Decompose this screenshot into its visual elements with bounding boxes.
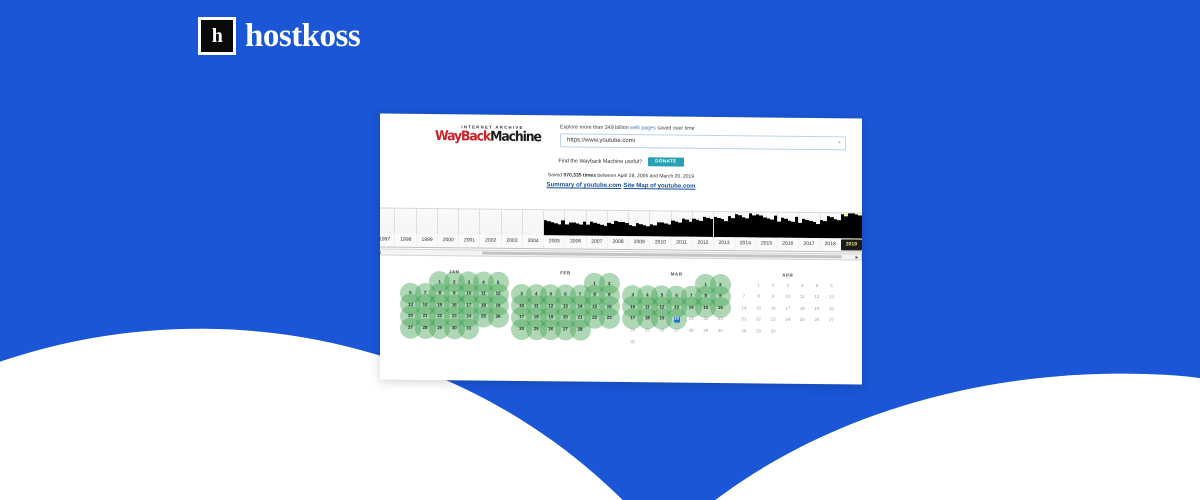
calendar-day-number: 2: [719, 283, 721, 287]
wordmark-wayback: WayBack: [435, 128, 490, 145]
calendar-day-number: 9: [719, 294, 721, 298]
calendar-day-number: 9: [608, 293, 610, 297]
calendar-day-cell: 1: [751, 279, 766, 291]
timeline-year-bars: [501, 208, 522, 235]
calendar-day-cell: 12: [810, 292, 825, 304]
calendar-day-number: 27: [563, 327, 568, 331]
timeline-year-bars: [714, 210, 735, 237]
calendar-day-number: 18: [645, 317, 650, 321]
timeline-year-label[interactable]: 2009: [629, 240, 650, 245]
calendar-day-cell[interactable]: 23: [602, 313, 617, 325]
saved-prefix: Saved: [548, 173, 564, 179]
calendar-day-number: 12: [548, 304, 553, 308]
calendar-day-cell: 20: [824, 303, 839, 315]
calendar-day-number: 6: [675, 294, 677, 298]
calendar-grid: 1234567891011121314151617181920212223242…: [626, 278, 728, 349]
donate-button[interactable]: DONATE: [648, 158, 683, 167]
calendar-day-number: 7: [743, 294, 745, 298]
calendar-jan: JAN1234567891011121314151617181920212223…: [403, 269, 505, 347]
calendar-day-number: 19: [814, 307, 819, 311]
search-input[interactable]: https://www.youtube.com/: [567, 138, 635, 145]
timeline-year-bars: [565, 208, 586, 235]
calendar-day-cell: 23: [713, 314, 728, 326]
timeline-year-label[interactable]: 2007: [586, 240, 607, 245]
calendar-day-number: 5: [550, 292, 552, 296]
timeline-year-label[interactable]: 2010: [650, 240, 671, 245]
timeline-year-bars: [395, 207, 416, 233]
calendar-day-number: 10: [519, 304, 524, 308]
calendar-day-cell: 21: [684, 313, 699, 325]
calendar-day-number: 26: [496, 315, 501, 319]
calendar-day-number: 22: [756, 318, 761, 322]
calendar-day-number: 26: [660, 328, 665, 332]
timeline-year-label[interactable]: 2004: [523, 239, 544, 244]
timeline-year-bars: [523, 208, 544, 235]
calendar-day-number: 18: [481, 303, 486, 307]
timeline-year-label[interactable]: 2003: [501, 239, 522, 244]
calendar-day-cell[interactable]: 16: [713, 302, 728, 314]
calendar-grid: 1234567891011121314151617181920212223242…: [737, 279, 839, 338]
timeline-year-label[interactable]: 2008: [607, 240, 628, 245]
calendar-day-number: 30: [771, 330, 776, 334]
logo-mark-icon: h: [198, 17, 236, 55]
timeline-year-label[interactable]: 2011: [671, 241, 692, 246]
calendar-day-cell: 19: [810, 303, 825, 315]
timeline-year-bars: [438, 207, 459, 234]
calendar-day-number: 18: [800, 307, 805, 311]
calendar-day-number: 6: [409, 291, 411, 295]
calendar-day-number: 23: [771, 318, 776, 322]
calendar-day-cell: 18: [795, 303, 810, 315]
calendar-day-number: 21: [742, 318, 747, 322]
calendar-day-cell: 24: [780, 314, 795, 326]
saved-count: 570,335 times: [563, 173, 596, 179]
scroll-left-icon[interactable]: ◀: [380, 249, 383, 254]
donate-question: Find the Wayback Machine useful?: [558, 158, 642, 165]
timeline-year-label[interactable]: 2001: [459, 238, 480, 243]
calendar-day-number: 11: [481, 292, 486, 296]
scrollbar-thumb[interactable]: [482, 252, 842, 259]
calendar-day-cell: 11: [795, 291, 810, 303]
timeline-year-bars: [380, 207, 395, 233]
calendar-day-number: 7: [690, 294, 692, 298]
timeline-year-bars: [735, 210, 756, 237]
timeline-year-bars: [459, 207, 480, 234]
timeline-year-label[interactable]: 1999: [416, 238, 437, 243]
calendar-day-number: 10: [466, 292, 471, 296]
calendar-day-number: 3: [468, 280, 470, 284]
calendar-day-number: 22: [592, 316, 597, 320]
calendar-day-number: 6: [564, 293, 566, 297]
calendar-day-number: 13: [563, 304, 568, 308]
wordmark-machine: Machine: [490, 129, 541, 146]
calendar-day-number: 19: [660, 317, 665, 321]
calendar-day-number: 24: [630, 328, 635, 332]
calendar-day-number: 7: [579, 293, 581, 297]
timeline-year-bars: [820, 211, 841, 238]
calendar-day-number: 15: [703, 306, 708, 310]
calendar-day-cell: 30: [766, 326, 781, 338]
timeline-year-label[interactable]: 2000: [438, 238, 459, 243]
calendar-grid: 1234567891011121314151617181920212223242…: [403, 276, 505, 335]
calendar-day-number: 14: [742, 306, 747, 310]
calendar-day-cell[interactable]: 31: [462, 323, 477, 335]
calendar-day-cell: 27: [669, 325, 684, 337]
calendar-day-number: 25: [534, 327, 539, 331]
calendar-day-number: 25: [481, 315, 486, 319]
calendar-day-number: 22: [437, 314, 442, 318]
calendar-day-number: 4: [482, 280, 484, 284]
calendar-day-number: 17: [630, 316, 635, 320]
saved-between: between April 28, 2005 and March 20, 201…: [596, 173, 694, 180]
calendar-day-number: 15: [437, 303, 442, 307]
timeline-section: 1997199819992000200120022003200420052006…: [380, 207, 862, 265]
calendar-day-cell: 31: [626, 336, 641, 348]
calendar-day-number: 27: [674, 329, 679, 333]
calendar-day-number: 19: [496, 303, 501, 307]
calendar-day-cell: 27: [824, 315, 839, 327]
timeline-year-label[interactable]: 2012: [692, 241, 713, 246]
calendar-day-number: 5: [661, 294, 663, 298]
calendar-day-number: 28: [423, 326, 428, 330]
calendar-day-number: 8: [438, 291, 440, 295]
wayback-logo[interactable]: INTERNET ARCHIVE WayBackMachine: [435, 122, 550, 145]
calendar-day-number: 27: [829, 319, 834, 323]
page-canvas: h hostkoss INTERNET ARCHIVE WayBackMachi…: [0, 0, 1200, 500]
calendar-day-cell: 7: [737, 291, 752, 303]
calendar-day-number: 1: [757, 283, 759, 287]
calendar-day-number: 31: [630, 340, 635, 344]
calendar-day-cell: 21: [737, 314, 752, 326]
calendar-day-number: 13: [829, 295, 834, 299]
calendar-day-number: 29: [437, 326, 442, 330]
calendar-day-number: 30: [718, 329, 723, 333]
wayback-screenshot-card: INTERNET ARCHIVE WayBackMachine Explore …: [380, 113, 862, 384]
brand-logo[interactable]: h hostkoss: [198, 17, 360, 55]
calendar-day-number: 16: [452, 303, 457, 307]
calendar-day-number: 16: [718, 306, 723, 310]
calendar-day-cell: 5: [810, 280, 825, 292]
calendar-day-number: 20: [563, 316, 568, 320]
calendar-day-number: 7: [424, 291, 426, 295]
calendar-day-cell: 29: [751, 326, 766, 338]
calendar-day-number: 24: [785, 318, 790, 322]
calendar-day-number: 12: [660, 305, 665, 309]
calendar-day-cell: 14: [737, 302, 752, 314]
brand-name: hostkoss: [245, 20, 360, 53]
calendar-day-cell: 10: [780, 291, 795, 303]
calendar-day-number: 28: [742, 329, 747, 333]
wayback-app: INTERNET ARCHIVE WayBackMachine Explore …: [380, 113, 862, 384]
calendar-day-number: 8: [757, 295, 759, 299]
year-timeline[interactable]: 1997199819992000200120022003200420052006…: [380, 207, 862, 252]
timeline-year-bars: [586, 209, 607, 236]
calendar-day-number: 1: [593, 281, 595, 285]
calendar-day-number: 8: [593, 293, 595, 297]
calendar-day-number: 8: [705, 294, 707, 298]
calendar-day-number: 2: [608, 281, 610, 285]
calendar-day-number: 31: [466, 326, 471, 330]
url-search-bar[interactable]: https://www.youtube.com/ ×: [560, 134, 846, 151]
calendar-day-cell[interactable]: 28: [573, 324, 588, 336]
calendar-day-number: 30: [452, 326, 457, 330]
calendar-day-number: 3: [520, 292, 522, 296]
calendar-day-number: 6: [830, 284, 832, 288]
calendar-day-number: 23: [718, 317, 723, 321]
calendar-day-number: 17: [785, 307, 790, 311]
timeline-year-label[interactable]: 2015: [756, 241, 777, 246]
calendar-day-number: 11: [534, 304, 539, 308]
calendar-day-number: 25: [800, 318, 805, 322]
calendar-day-number: 11: [800, 295, 805, 299]
calendar-day-number: 14: [423, 303, 428, 307]
calendar-day-number: 17: [466, 303, 471, 307]
calendar-day-number: 12: [496, 292, 501, 296]
calendar-day-number: 22: [703, 317, 708, 321]
calendar-day-cell: 29: [698, 325, 713, 337]
calendar-day-number: 29: [756, 329, 761, 333]
calendar-blank-cell: [737, 279, 752, 291]
calendar-month-label: APR: [737, 272, 839, 278]
timeline-year-bars: [671, 210, 692, 237]
calendar-day-cell: 26: [655, 325, 670, 337]
calendar-day-number: 28: [689, 329, 694, 333]
calendar-day-cell: 28: [737, 326, 752, 338]
scroll-right-icon[interactable]: ▶: [853, 254, 861, 259]
timeline-year-label[interactable]: 1997: [380, 237, 395, 242]
timeline-year-bars: [416, 207, 437, 234]
calendar-day-number: 19: [548, 316, 553, 320]
calendar-day-cell[interactable]: 26: [491, 311, 506, 323]
calendar-month-label: JAN: [403, 269, 505, 275]
calendar-day-number: 29: [703, 329, 708, 333]
calendar-day-number: 23: [607, 316, 612, 320]
calendar-day-number: 20: [829, 307, 834, 311]
calendar-day-number: 11: [645, 305, 650, 309]
timeline-year-label[interactable]: 2005: [544, 239, 565, 244]
calendar-day-number: 1: [705, 282, 707, 286]
card-edge: [861, 119, 863, 385]
calendar-day-number: 2: [772, 283, 774, 287]
calendar-day-number: 18: [534, 315, 539, 319]
calendar-day-cell: 13: [824, 292, 839, 304]
sitemap-link[interactable]: Site Map of youtube.com: [623, 182, 695, 190]
calendar-day-number: 28: [578, 328, 583, 332]
calendar-day-number: 4: [646, 293, 648, 297]
calendar-day-number: 9: [453, 291, 455, 295]
calendar-day-cell: 15: [751, 303, 766, 315]
calendar-day-number: 15: [756, 306, 761, 310]
search-column: Explore more than 349 billion web pages …: [560, 123, 846, 150]
calendar-day-number: 4: [801, 283, 803, 287]
tagline-after: saved over time: [656, 125, 695, 131]
wayback-header: INTERNET ARCHIVE WayBackMachine Explore …: [380, 113, 862, 150]
calendar-day-number: 13: [674, 305, 679, 309]
calendar-day-number: 9: [772, 295, 774, 299]
calendar-day-number: 12: [814, 295, 819, 299]
calendar-day-number: 13: [408, 303, 413, 307]
calendar-day-cell: 25: [795, 315, 810, 327]
calendar-day-number: 16: [771, 306, 776, 310]
timeline-year-bars: [544, 208, 565, 235]
calendar-day-number: 1: [438, 280, 440, 284]
calendar-month-label: MAR: [626, 271, 728, 277]
calendar-day-cell: 3: [780, 280, 795, 292]
calendar-day-number: 4: [535, 292, 537, 296]
calendar-day-number: 14: [578, 304, 583, 308]
calendar-day-number: 20: [674, 317, 679, 321]
timeline-year-bars: [841, 211, 862, 238]
calendar-day-number: 21: [578, 316, 583, 320]
calendar-day-cell: 17: [780, 303, 795, 315]
calendar-day-cell: 23: [766, 314, 781, 326]
calendar-day-number: 10: [785, 295, 790, 299]
calendar-day-number: 24: [519, 327, 524, 331]
calendar-day-number: 5: [816, 284, 818, 288]
calendar-day-number: 5: [497, 280, 499, 284]
calendar-day-cell: 2: [766, 280, 781, 292]
timeline-year-bars: [777, 211, 798, 238]
summary-link[interactable]: Summary of youtube.com: [547, 181, 622, 189]
calendar-day-number: 2: [453, 280, 455, 284]
timeline-year-label[interactable]: 2018: [820, 242, 841, 247]
calendar-day-number: 17: [519, 315, 524, 319]
calendar-day-cell: 8: [751, 291, 766, 303]
calendar-day-cell: 16: [766, 303, 781, 315]
calendar-day-cell: 6: [824, 280, 839, 292]
timeline-year-bars: [756, 210, 777, 237]
logo-mark-glyph: h: [212, 26, 223, 46]
month-calendars: JAN1234567891011121314151617181920212223…: [380, 268, 862, 350]
calendar-day-cell[interactable]: 20: [669, 313, 684, 325]
timeline-year-label[interactable]: 1998: [395, 238, 416, 243]
calendar-day-cell: 26: [810, 315, 825, 327]
calendar-day-cell: 22: [751, 314, 766, 326]
calendar-day-number: 3: [632, 293, 634, 297]
calendar-day-number: 20: [408, 314, 413, 318]
calendar-day-number: 3: [787, 283, 789, 287]
timeline-year-label[interactable]: 2016: [777, 242, 798, 247]
calendar-day-number: 15: [592, 304, 597, 308]
calendar-day-number: 25: [645, 328, 650, 332]
timeline-year-label[interactable]: 2019: [841, 239, 862, 250]
timeline-year-bars: [607, 209, 628, 236]
calendar-day-number: 10: [630, 305, 635, 309]
web-pages-link[interactable]: web pages: [630, 125, 656, 131]
calendar-day-cell: 22: [698, 314, 713, 326]
timeline-year-bars: [629, 209, 650, 236]
timeline-year-bars: [692, 210, 713, 237]
calendar-day-number: 26: [548, 327, 553, 331]
calendar-day-number: 26: [814, 318, 819, 322]
timeline-year-label[interactable]: 2017: [798, 242, 819, 247]
calendar-day-number: 16: [607, 305, 612, 309]
calendar-day-cell: 28: [684, 325, 699, 337]
calendar-month-label: FEB: [514, 270, 616, 276]
calendar-day-number: 24: [466, 315, 471, 319]
timeline-year-bars: [650, 209, 671, 236]
tagline-before: Explore more than 349 billion: [560, 124, 630, 131]
wayback-wordmark: WayBackMachine: [435, 130, 541, 145]
donate-row: Find the Wayback Machine useful? DONATE: [380, 155, 862, 169]
calendar-day-cell: 24: [626, 324, 641, 336]
close-icon[interactable]: ×: [837, 141, 841, 147]
calendar-day-number: 27: [408, 326, 413, 330]
timeline-year-label[interactable]: 2013: [714, 241, 735, 246]
timeline-year-bars: [798, 211, 819, 238]
calendar-feb: FEB1234567891011121314151617181920212223…: [514, 270, 616, 348]
calendar-day-number: 14: [689, 305, 694, 309]
timeline-year-label[interactable]: 2006: [565, 239, 586, 244]
tagline: Explore more than 349 billion web pages …: [560, 124, 846, 133]
timeline-year-label[interactable]: 2002: [480, 239, 501, 244]
calendar-day-number: 21: [689, 317, 694, 321]
calendar-day-cell: 30: [713, 325, 728, 337]
calendar-day-cell: 9: [766, 291, 781, 303]
calendar-day-cell: 25: [640, 325, 655, 337]
timeline-year-label[interactable]: 2014: [735, 241, 756, 246]
calendar-day-cell: 4: [795, 280, 810, 292]
calendar-grid: 1234567891011121314151617181920212223242…: [514, 277, 616, 336]
calendar-day-number: 21: [423, 314, 428, 318]
calendar-mar: MAR1234567891011121314151617181920212223…: [626, 271, 728, 349]
timeline-year-bars: [480, 208, 501, 235]
calendar-apr: APR1234567891011121314151617181920212223…: [737, 272, 839, 350]
calendar-day-number: 23: [452, 315, 457, 319]
